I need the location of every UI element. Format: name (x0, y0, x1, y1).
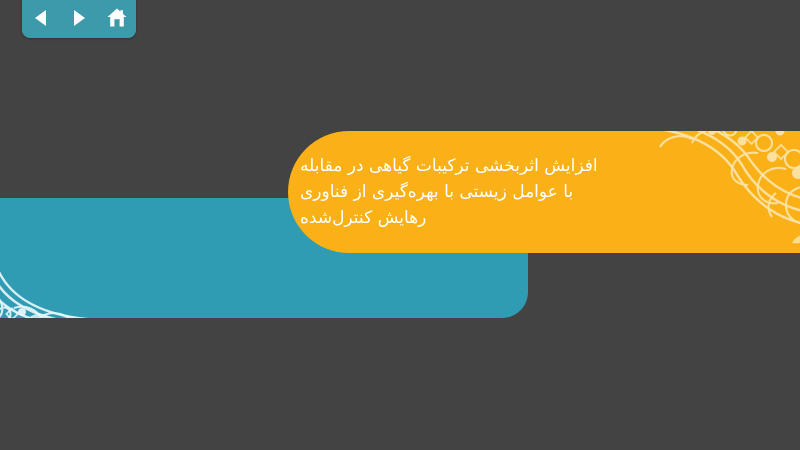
navigation-bar (22, 0, 136, 38)
arabesque-ornament (586, 131, 800, 253)
back-button[interactable] (27, 5, 55, 31)
arabesque-ornament (0, 198, 178, 318)
back-icon (32, 8, 50, 28)
home-button[interactable] (103, 5, 131, 31)
orange-title-banner (288, 131, 800, 253)
forward-button[interactable] (65, 5, 93, 31)
home-icon (106, 7, 128, 29)
slide-canvas: افزایش اثربخشی ترکیبات گیاهی در مقابله ب… (0, 0, 800, 450)
forward-icon (70, 8, 88, 28)
